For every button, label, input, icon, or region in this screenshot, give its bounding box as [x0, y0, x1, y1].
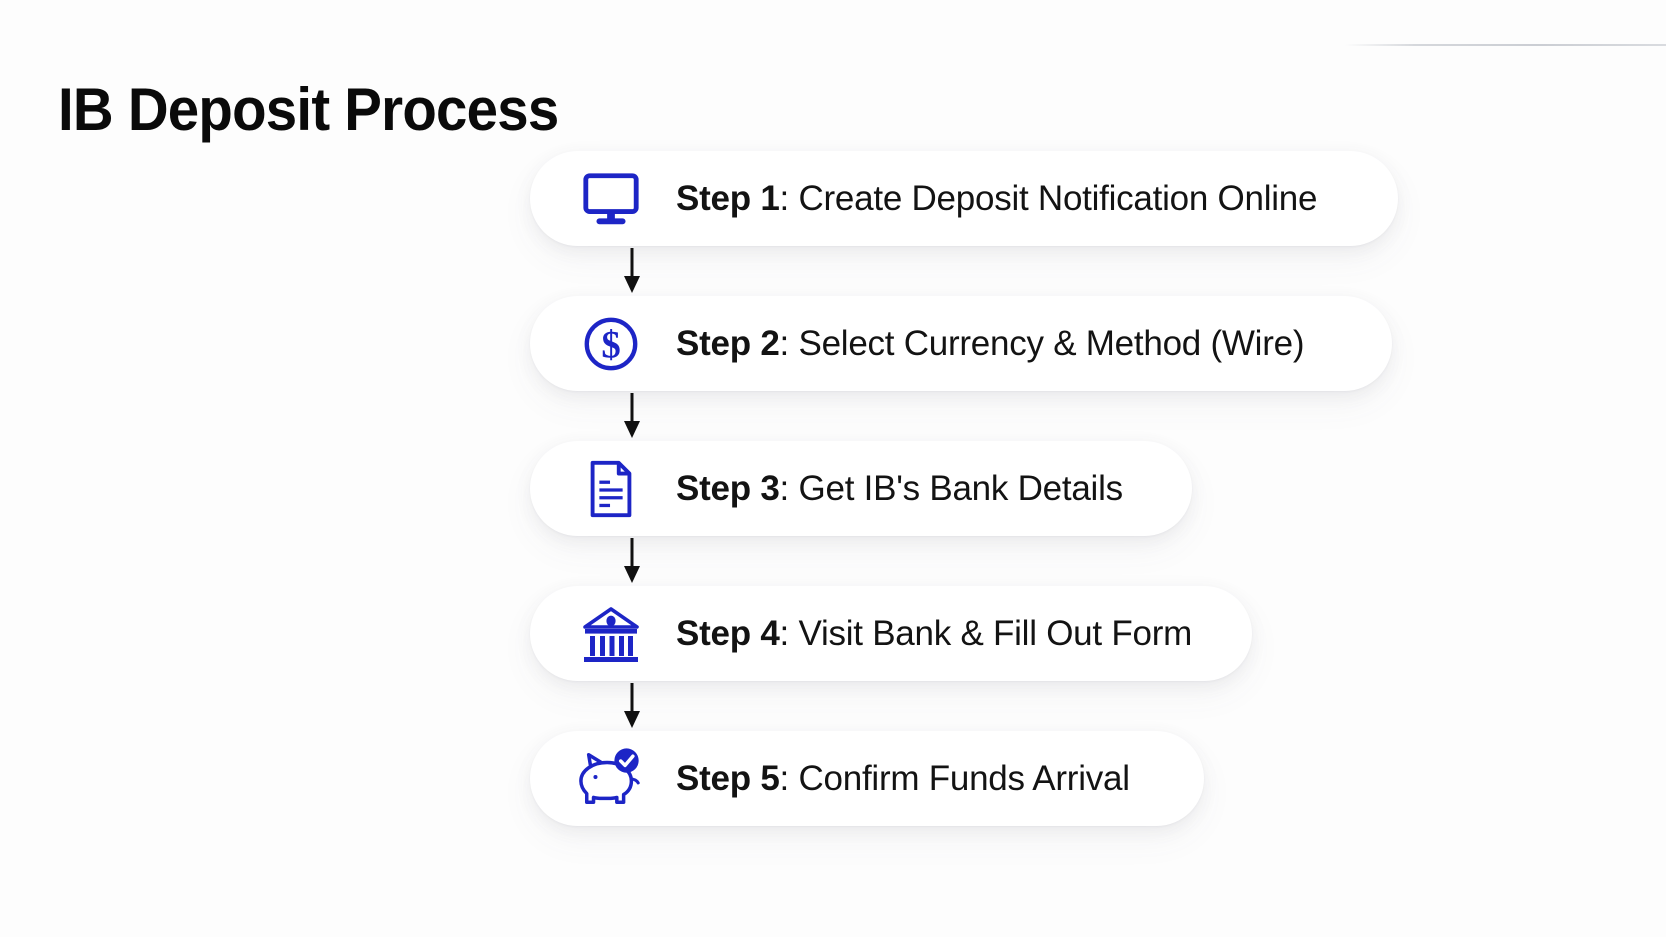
step-label-4: Step 4: Visit Bank & Fill Out Form [676, 614, 1192, 654]
document-icon [578, 456, 644, 522]
step-number-5: Step 5 [676, 759, 780, 798]
piggy-bank-check-icon [578, 746, 644, 812]
step-number-2: Step 2 [676, 324, 780, 363]
monitor-icon [578, 166, 644, 232]
step-separator-4: : [780, 614, 799, 653]
step-title-5: Confirm Funds Arrival [799, 759, 1130, 798]
step-row: Step 4: Visit Bank & Fill Out Form [530, 586, 1430, 681]
dollar-circle-icon: $ [578, 311, 644, 377]
step-row: Step 5: Confirm Funds Arrival [530, 731, 1430, 826]
step-card-4[interactable]: Step 4: Visit Bank & Fill Out Form [530, 586, 1252, 681]
step-number-4: Step 4 [676, 614, 780, 653]
step-row: $ Step 2: Select Currency & Method (Wire… [530, 296, 1430, 391]
step-title-2: Select Currency & Method (Wire) [799, 324, 1305, 363]
step-row: Step 1: Create Deposit Notification Onli… [530, 151, 1430, 246]
step-card-2[interactable]: $ Step 2: Select Currency & Method (Wire… [530, 296, 1392, 391]
deposit-step-flow: Step 1: Create Deposit Notification Onli… [530, 151, 1430, 826]
step-title-4: Visit Bank & Fill Out Form [799, 614, 1193, 653]
step-label-1: Step 1: Create Deposit Notification Onli… [676, 179, 1317, 219]
step-card-5[interactable]: Step 5: Confirm Funds Arrival [530, 731, 1204, 826]
step-number-1: Step 1 [676, 179, 780, 218]
step-number-3: Step 3 [676, 469, 780, 508]
bank-icon [578, 601, 644, 667]
step-separator-5: : [780, 759, 799, 798]
step-label-5: Step 5: Confirm Funds Arrival [676, 759, 1130, 799]
step-title-1: Create Deposit Notification Online [799, 179, 1318, 218]
down-arrow-icon [620, 681, 644, 731]
step-separator-1: : [780, 179, 799, 218]
page-title: IB Deposit Process [58, 78, 559, 141]
step-card-3[interactable]: Step 3: Get IB's Bank Details [530, 441, 1192, 536]
step-card-1[interactable]: Step 1: Create Deposit Notification Onli… [530, 151, 1398, 246]
down-arrow-icon [620, 246, 644, 296]
step-separator-3: : [780, 469, 799, 508]
down-arrow-icon [620, 391, 644, 441]
scan-line-artifact [1345, 44, 1666, 46]
down-arrow-icon [620, 536, 644, 586]
step-row: Step 3: Get IB's Bank Details [530, 441, 1430, 536]
step-label-3: Step 3: Get IB's Bank Details [676, 469, 1123, 509]
svg-text:$: $ [601, 323, 620, 366]
step-title-3: Get IB's Bank Details [799, 469, 1123, 508]
step-label-2: Step 2: Select Currency & Method (Wire) [676, 324, 1304, 364]
step-separator-2: : [780, 324, 799, 363]
